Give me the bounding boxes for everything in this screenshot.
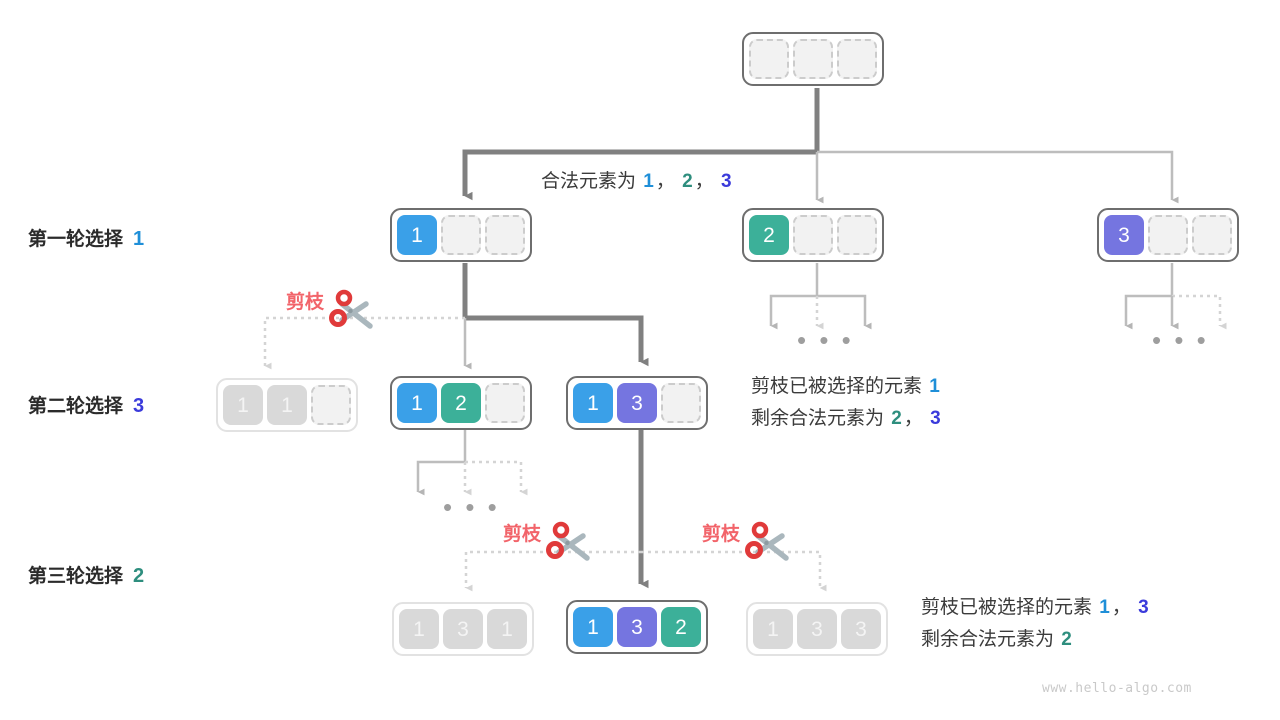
prune-label-level3-right: 剪枝	[702, 519, 740, 546]
scissors-icon-prune-level3-left	[549, 524, 588, 558]
row-label-round-2-value: 3	[133, 395, 144, 417]
node-level1-c[interactable]: 3	[1097, 208, 1239, 262]
node-root-cell-1	[793, 39, 833, 79]
row-label-round-3-value: 2	[133, 565, 144, 587]
node-level2-b-cell-1: 2	[441, 383, 481, 423]
node-level2-a-cell-0: 1	[223, 385, 263, 425]
edges-level1-c-children	[1126, 263, 1220, 326]
annotation-level2-line2-sep: ，	[904, 408, 923, 429]
row-label-round-1: 第一轮选择1	[28, 224, 144, 251]
annotation-legal-elements-num-2: 3	[721, 171, 732, 192]
prune-label-level2: 剪枝	[286, 287, 324, 314]
node-level2-b-cell-2	[485, 383, 525, 423]
node-level1-c-cell-2	[1192, 215, 1232, 255]
annotation-level2-line1-num-0: 1	[929, 376, 940, 397]
node-level2-a-cell-1: 1	[267, 385, 307, 425]
annotation-level3-line2-num-0: 2	[1061, 629, 1072, 650]
node-level3-c-pruned[interactable]: 1 3 3	[746, 602, 888, 656]
edges-level1-a-to-level2	[265, 263, 641, 366]
node-root-cell-0	[749, 39, 789, 79]
node-level3-b-cell-1: 3	[617, 607, 657, 647]
row-label-round-2-text: 第二轮选择	[28, 396, 123, 417]
node-level1-a-cell-1	[441, 215, 481, 255]
node-level1-a-cell-0: 1	[397, 215, 437, 255]
annotation-legal-sep-1: ，	[695, 171, 714, 192]
edges-level1-b-children	[771, 263, 865, 326]
node-root-cell-2	[837, 39, 877, 79]
annotation-legal-elements: 合法元素为 1， 2， 3	[541, 166, 734, 198]
diagram-canvas: 第一轮选择1 第二轮选择3 第三轮选择2 1 2 3 1 1 1 2 1	[0, 0, 1280, 720]
node-level2-c[interactable]: 1 3	[566, 376, 708, 430]
annotation-legal-elements-num-1: 2	[682, 171, 693, 192]
node-level3-b-cell-0: 1	[573, 607, 613, 647]
node-level1-a[interactable]: 1	[390, 208, 532, 262]
watermark: www.hello-algo.com	[1042, 681, 1192, 696]
annotation-level3-line2-prefix: 剩余合法元素为	[921, 629, 1054, 650]
node-level2-c-cell-1: 3	[617, 383, 657, 423]
annotation-level2-note: 剪枝已被选择的元素 1 剩余合法元素为 2， 3	[751, 371, 943, 435]
node-level2-a-cell-2	[311, 385, 351, 425]
annotation-level2-note-line1: 剪枝已被选择的元素 1	[751, 371, 943, 403]
node-level3-a-pruned[interactable]: 1 3 1	[392, 602, 534, 656]
row-label-round-1-text: 第一轮选择	[28, 229, 123, 250]
annotation-legal-elements-prefix: 合法元素为	[541, 171, 636, 192]
node-level1-b-cell-1	[793, 215, 833, 255]
annotation-level2-line2-num-1: 3	[930, 408, 941, 429]
node-level3-c-cell-2: 3	[841, 609, 881, 649]
annotation-level3-note-line1: 剪枝已被选择的元素 1， 3	[921, 592, 1151, 624]
annotation-level3-note: 剪枝已被选择的元素 1， 3 剩余合法元素为 2	[921, 592, 1151, 656]
ellipsis-level1-c: • • •	[1152, 327, 1209, 353]
annotation-level3-line1-sep: ，	[1112, 597, 1131, 618]
annotation-level2-line2-num-0: 2	[891, 408, 902, 429]
node-level2-a-pruned[interactable]: 1 1	[216, 378, 358, 432]
edges-level2-b-children	[418, 430, 521, 492]
node-level2-c-cell-2	[661, 383, 701, 423]
annotation-legal-elements-num-0: 1	[643, 171, 654, 192]
row-label-round-3-text: 第三轮选择	[28, 566, 123, 587]
node-level2-c-cell-0: 1	[573, 383, 613, 423]
scissors-icon-prune-level3-right	[748, 524, 787, 558]
node-level2-b[interactable]: 1 2	[390, 376, 532, 430]
annotation-level3-line1-num-0: 1	[1099, 597, 1110, 618]
prune-label-level3-left: 剪枝	[503, 519, 541, 546]
annotation-level3-line1-prefix: 剪枝已被选择的元素	[921, 597, 1092, 618]
node-level1-a-cell-2	[485, 215, 525, 255]
row-label-round-2: 第二轮选择3	[28, 391, 144, 418]
annotation-level2-line2-prefix: 剩余合法元素为	[751, 408, 884, 429]
node-level3-a-cell-2: 1	[487, 609, 527, 649]
node-level3-a-cell-1: 3	[443, 609, 483, 649]
node-level3-b[interactable]: 1 3 2	[566, 600, 708, 654]
node-level1-b-cell-2	[837, 215, 877, 255]
edges-level2-c-to-level3	[466, 430, 820, 588]
annotation-legal-sep-0: ，	[656, 171, 675, 192]
node-level1-b-cell-0: 2	[749, 215, 789, 255]
node-level1-c-cell-0: 3	[1104, 215, 1144, 255]
node-level1-c-cell-1	[1148, 215, 1188, 255]
row-label-round-3: 第三轮选择2	[28, 561, 144, 588]
ellipsis-level1-b: • • •	[797, 327, 854, 353]
annotation-level2-note-line2: 剩余合法元素为 2， 3	[751, 403, 943, 435]
node-level1-b[interactable]: 2	[742, 208, 884, 262]
annotation-level3-line1-num-1: 3	[1138, 597, 1149, 618]
node-level3-c-cell-0: 1	[753, 609, 793, 649]
node-level3-a-cell-0: 1	[399, 609, 439, 649]
ellipsis-level2-b: • • •	[443, 494, 500, 520]
node-root[interactable]	[742, 32, 884, 86]
annotation-level3-note-line2: 剩余合法元素为 2	[921, 624, 1151, 656]
row-label-round-1-value: 1	[133, 228, 144, 250]
node-level3-b-cell-2: 2	[661, 607, 701, 647]
node-level3-c-cell-1: 3	[797, 609, 837, 649]
scissors-icon-prune-level2	[332, 292, 371, 326]
node-level2-b-cell-0: 1	[397, 383, 437, 423]
annotation-level2-line1-prefix: 剪枝已被选择的元素	[751, 376, 922, 397]
